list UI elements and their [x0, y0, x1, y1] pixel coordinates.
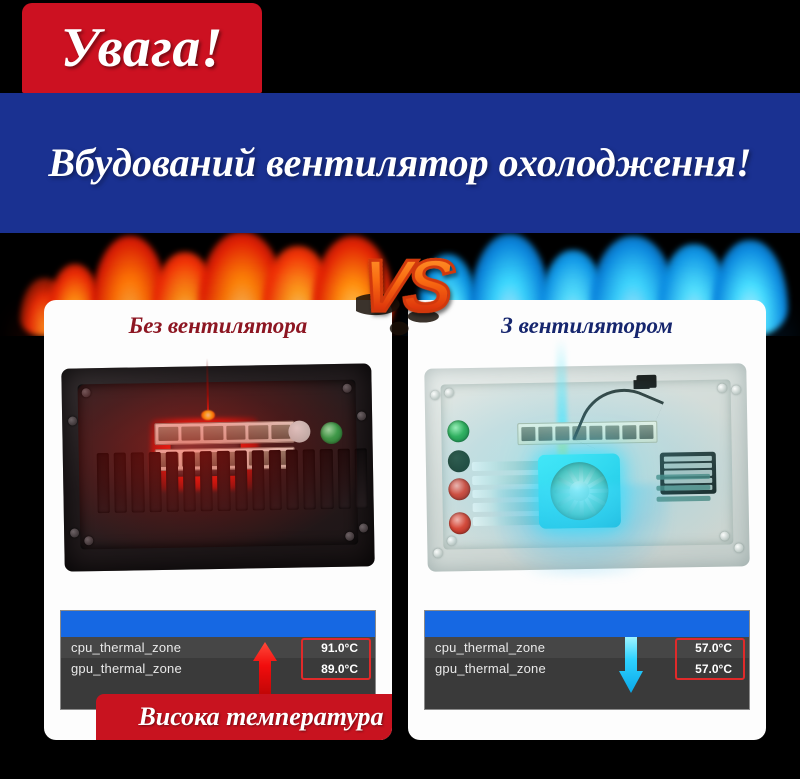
device-chassis [424, 363, 749, 572]
promo-banner-stage: Увага! Вбудований вентилятор охолодження… [0, 0, 800, 779]
comparison-card-with-fan: З вентилятором [408, 300, 766, 740]
thermal-header-bar [61, 611, 375, 637]
screw [718, 384, 727, 393]
screw [84, 536, 93, 545]
thermal-zone-label: cpu_thermal_zone [435, 640, 545, 655]
thermal-filler [425, 679, 749, 709]
thermal-rows: cpu_thermal_zone 91.0°C gpu_thermal_zone… [61, 637, 375, 679]
connector-strip [154, 421, 294, 445]
screw [343, 384, 352, 393]
thermal-rows: cpu_thermal_zone 57.0°C gpu_thermal_zone… [425, 637, 749, 679]
thermal-zone-value: 57.0°C [695, 662, 732, 676]
round-port-dark [448, 450, 470, 472]
heat-probe-line [206, 358, 209, 410]
headline-banner: Вбудований вентилятор охолодження! [0, 93, 800, 233]
thermal-readout-cool: cpu_thermal_zone 57.0°C gpu_thermal_zone… [424, 610, 750, 710]
screw [433, 549, 442, 558]
screw [345, 532, 354, 541]
device-chassis [61, 363, 374, 571]
round-port-green [320, 422, 342, 444]
attention-label: Увага! [61, 20, 223, 76]
arrow-down-icon [617, 635, 645, 695]
table-row: cpu_thermal_zone 91.0°C [61, 637, 375, 658]
card-title-with-fan: З вентилятором [408, 314, 766, 337]
device-board [78, 380, 359, 550]
cooling-airflow-glow [494, 484, 671, 579]
screw [732, 385, 741, 394]
round-port [288, 420, 310, 442]
attention-badge: Увага! [22, 3, 262, 93]
caption-high-temperature: Висока температура [96, 694, 392, 740]
device-photo-cool [422, 360, 752, 575]
thermal-zone-value: 57.0°C [695, 641, 732, 655]
round-port-red [448, 478, 470, 500]
fan-power-cable [572, 375, 664, 467]
vent-slots [97, 448, 368, 513]
device-board [441, 379, 734, 549]
device-photo-hot [59, 360, 377, 575]
screw [70, 528, 79, 537]
screw [82, 388, 91, 397]
caption-text: Висока температура [138, 702, 383, 732]
thermal-zone-label: gpu_thermal_zone [71, 661, 182, 676]
thermal-zone-value: 91.0°C [321, 641, 358, 655]
screw [359, 523, 368, 532]
screw [431, 391, 440, 400]
comparison-card-without-fan: Без вентилятора [44, 300, 392, 740]
thermal-zone-label: cpu_thermal_zone [71, 640, 181, 655]
headline-text: Вбудований вентилятор охолодження! [8, 141, 791, 186]
cable-plug-icon [636, 375, 656, 388]
table-row: gpu_thermal_zone 57.0°C [425, 658, 749, 679]
arrow-up-icon [251, 641, 279, 695]
versus-label: VS [357, 249, 451, 323]
round-port-green [447, 420, 469, 442]
table-row: gpu_thermal_zone 89.0°C [61, 658, 375, 679]
thermal-zone-value: 89.0°C [321, 662, 358, 676]
screw [447, 536, 456, 545]
versus-badge: VS [348, 232, 460, 340]
screw [720, 532, 729, 541]
screw [357, 411, 366, 420]
screw [445, 388, 454, 397]
thermal-header-bar [425, 611, 749, 637]
table-row: cpu_thermal_zone 57.0°C [425, 637, 749, 658]
round-port-red [449, 512, 471, 534]
thermal-zone-label: gpu_thermal_zone [435, 661, 546, 676]
screw [68, 416, 77, 425]
pcb-traces [656, 474, 710, 502]
card-title-without-fan: Без вентилятора [44, 314, 392, 337]
screw [734, 543, 743, 552]
